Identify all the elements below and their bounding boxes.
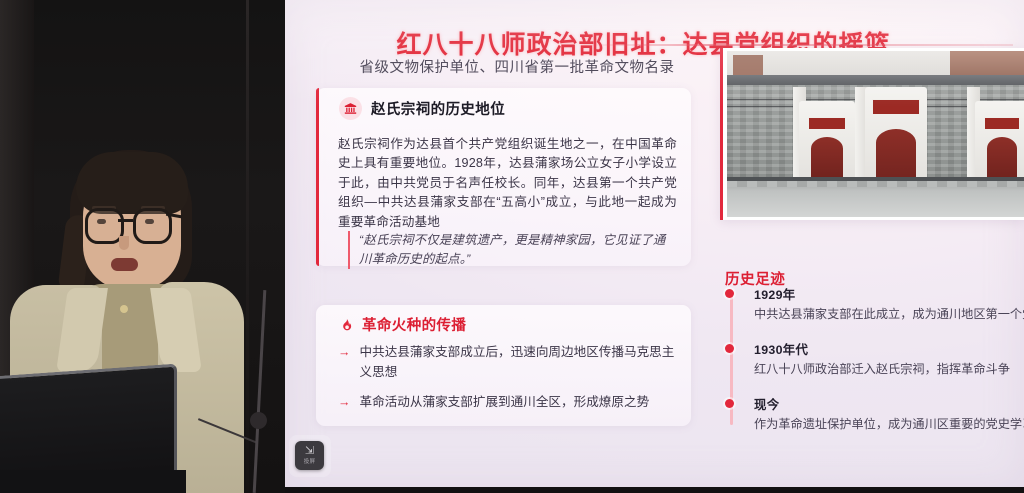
presenter-fringe: [76, 152, 188, 214]
photo-gate-left: [799, 101, 855, 181]
arrow-icon: →: [338, 343, 351, 363]
timeline-year: 1929年: [754, 285, 1024, 303]
photo-door-left: [811, 137, 843, 181]
timeline-item: 1929年 中共达县蒲家支部在此成立，成为通川地区第一个党组织: [725, 285, 1024, 323]
screen-share-icon[interactable]: ⇲ 投屏: [295, 441, 324, 470]
screen-share-glyph: ⇲: [305, 446, 314, 457]
timeline-year: 1930年代: [754, 340, 1024, 358]
history-card-header: 赵氏宗祠的历史地位: [339, 97, 505, 120]
list-item: → 中共达县蒲家支部成立后，迅速向周边地区传播马克思主义思想: [338, 343, 677, 382]
presenter-necklace: [120, 305, 128, 313]
photo-content: [727, 51, 1024, 217]
photo-gate-main: [865, 87, 927, 181]
photo-curb-line: [727, 177, 1024, 181]
photo-door-right: [987, 137, 1017, 181]
photo-gate-right: [975, 101, 1024, 181]
history-card-body: 赵氏宗祠作为达县首个共产党组织诞生地之一，在中国革命史上具有重要地位。1928年…: [338, 135, 677, 233]
title-divider: [583, 44, 1013, 46]
room-background: [0, 0, 292, 493]
screenshot-stage: 红八十八师政治部旧址：达县党组织的摇篮 省级文物保护单位、四川省第一批革命文物名…: [0, 0, 1024, 493]
microphone-knob: [250, 412, 267, 429]
timeline-dot: [725, 344, 734, 353]
timeline-dot: [725, 289, 734, 298]
photo-plaque-main: [872, 99, 920, 115]
photo-plaque-right: [984, 117, 1020, 130]
spread-card-header: 革命火种的传播: [339, 314, 466, 335]
history-card-quote: “赵氏宗祠不仅是建筑遗产，更是精神家园，它见证了通川革命历史的起点。”: [348, 231, 675, 269]
photo-door-main: [876, 129, 916, 181]
list-item-text: 中共达县蒲家支部成立后，迅速向周边地区传播马克思主义思想: [360, 343, 678, 382]
list-item: → 革命活动从蒲家支部扩展到通川全区，形成燎原之势: [338, 393, 677, 413]
museum-icon: [339, 97, 362, 120]
podium-surface: [0, 470, 186, 493]
slide-subtitle: 省级文物保护单位、四川省第一批革命文物名录: [317, 56, 717, 77]
glasses-bridge: [118, 219, 133, 222]
timeline-item: 1930年代 红八十八师政治部迁入赵氏宗祠，指挥革命斗争: [725, 340, 1024, 378]
timeline-desc: 中共达县蒲家支部在此成立，成为通川地区第一个党组织: [754, 306, 1024, 323]
screen-share-label: 投屏: [304, 459, 315, 465]
list-item-text: 革命活动从蒲家支部扩展到通川全区，形成燎原之势: [360, 393, 650, 413]
presenter-mouth: [111, 258, 138, 271]
history-status-card: 赵氏宗祠的历史地位 赵氏宗祠作为达县首个共产党组织诞生地之一，在中国革命史上具有…: [316, 88, 691, 266]
timeline-year: 现今: [754, 395, 1024, 413]
spread-bullet-list: → 中共达县蒲家支部成立后，迅速向周边地区传播马克思主义思想 → 革命活动从蒲家…: [338, 343, 677, 424]
presenter-nose: [119, 236, 129, 250]
revolution-spread-card: 革命火种的传播 → 中共达县蒲家支部成立后，迅速向周边地区传播马克思主义思想 →…: [316, 305, 691, 426]
history-timeline: 1929年 中共达县蒲家支部在此成立，成为通川地区第一个党组织 1930年代 红…: [725, 285, 1024, 450]
projection-screen: 红八十八师政治部旧址：达县党组织的摇篮 省级文物保护单位、四川省第一批革命文物名…: [285, 0, 1024, 487]
timeline-desc: 作为革命遗址保护单位，成为通川区重要的党史学习基地: [754, 416, 1024, 433]
timeline-dot: [725, 399, 734, 408]
spread-card-title: 革命火种的传播: [362, 314, 466, 335]
timeline-desc: 红八十八师政治部迁入赵氏宗祠，指挥革命斗争: [754, 361, 1024, 378]
card-accent-bar: [316, 88, 319, 266]
screen-bezel-bottom: [285, 487, 1024, 493]
arrow-icon: →: [338, 393, 351, 413]
flame-icon: [339, 317, 353, 333]
timeline-item: 现今 作为革命遗址保护单位，成为通川区重要的党史学习基地: [725, 395, 1024, 433]
history-card-title: 赵氏宗祠的历史地位: [371, 98, 505, 119]
photo-plaque-left: [808, 117, 846, 130]
ancestral-hall-photo: [720, 48, 1024, 220]
